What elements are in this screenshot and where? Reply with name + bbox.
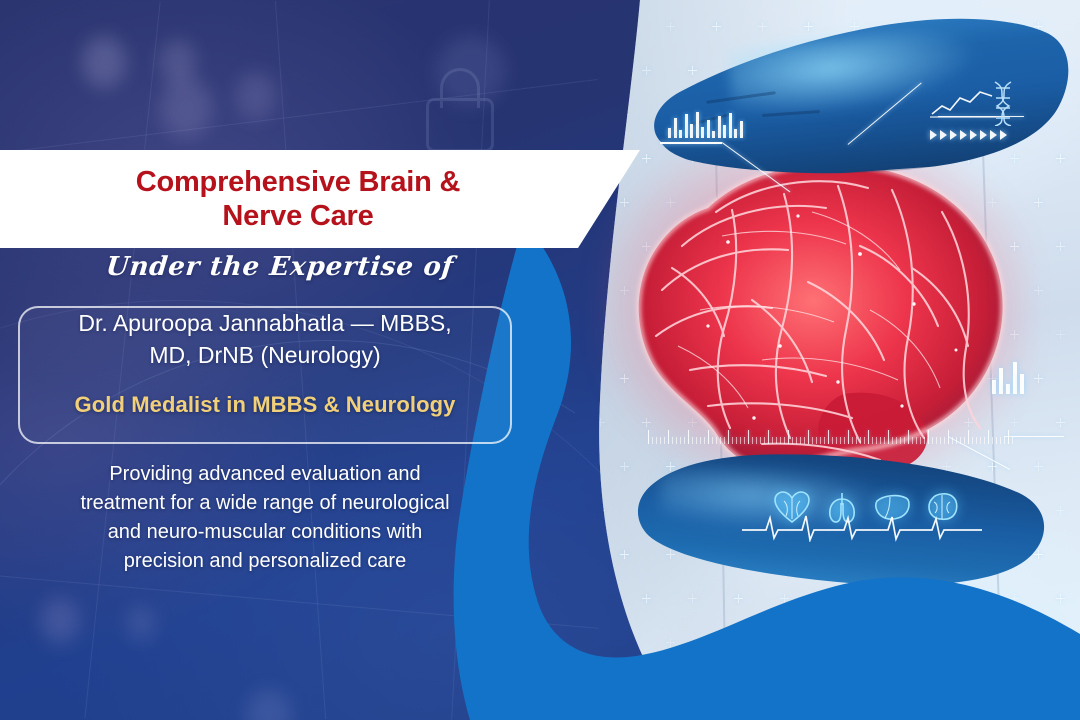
sparkle-icon xyxy=(1056,154,1065,163)
ruler-tick xyxy=(652,437,653,444)
sparkle-icon xyxy=(574,462,583,471)
sparkle-icon xyxy=(596,682,605,691)
sparkle-icon xyxy=(574,286,583,295)
ruler-tick xyxy=(908,430,909,444)
ruler-tick xyxy=(964,437,965,444)
ruler-tick xyxy=(960,437,961,444)
description-line-2: treatment for a wide range of neurologic… xyxy=(30,489,500,518)
sparkle-icon xyxy=(734,594,743,603)
sparkle-icon xyxy=(850,638,859,647)
description-line-1: Providing advanced evaluation and xyxy=(30,460,500,489)
sparkle-icon xyxy=(826,682,835,691)
ruler-tick xyxy=(1004,437,1005,444)
ruler-tick xyxy=(976,437,977,444)
description-line-3: and neuro-muscular conditions with xyxy=(30,518,500,547)
ruler-tick xyxy=(1000,437,1001,444)
sparkle-icon xyxy=(620,22,629,31)
sparkle-icon xyxy=(1056,242,1065,251)
sparkle-icon xyxy=(688,66,697,75)
sparkle-icon xyxy=(666,638,675,647)
ruler-tick xyxy=(676,437,677,444)
sparkle-icon xyxy=(596,66,605,75)
sparkle-icon xyxy=(1034,286,1043,295)
ruler-tick xyxy=(748,430,749,444)
ruler-tick xyxy=(992,437,993,444)
title-line-1: Comprehensive Brain & xyxy=(18,165,578,199)
title-line-2: Nerve Care xyxy=(18,199,578,233)
sparkle-icon xyxy=(642,594,651,603)
ruler-tick xyxy=(832,437,833,444)
ruler-tick xyxy=(768,430,769,444)
ruler-tick xyxy=(916,437,917,444)
ruler-tick xyxy=(900,437,901,444)
ruler-tick xyxy=(924,437,925,444)
sparkle-icon xyxy=(964,594,973,603)
sparkle-icon xyxy=(1056,594,1065,603)
ruler-tick xyxy=(980,437,981,444)
ruler-tick xyxy=(704,437,705,444)
ruler-tick xyxy=(780,437,781,444)
ruler-tick xyxy=(744,437,745,444)
ruler-tick xyxy=(772,437,773,444)
ruler-tick xyxy=(828,430,829,444)
sparkle-icon xyxy=(574,550,583,559)
ruler-tick xyxy=(724,437,725,444)
sparkle-icon xyxy=(850,22,859,31)
decorative-glow xyxy=(436,36,506,106)
ruler-tick xyxy=(880,437,881,444)
decorative-line xyxy=(0,79,598,158)
ruler-tick xyxy=(664,437,665,444)
vertical-bar-chart-icon xyxy=(992,360,1024,394)
ruler-tick xyxy=(904,437,905,444)
ruler-tick xyxy=(788,430,789,444)
medical-promo-banner: Comprehensive Brain & Nerve Care Under t… xyxy=(0,0,1080,720)
ruler-tick xyxy=(804,437,805,444)
ruler-tick xyxy=(884,437,885,444)
arrow-markers-icon xyxy=(930,130,1007,140)
ruler-tick xyxy=(888,430,889,444)
sparkle-icon xyxy=(780,682,789,691)
decorative-glow xyxy=(160,78,212,138)
ruler-tick xyxy=(824,437,825,444)
ruler-tick xyxy=(876,437,877,444)
sparkle-icon xyxy=(1010,594,1019,603)
sparkle-icon xyxy=(642,682,651,691)
doctor-name-line-1: Dr. Apuroopa Jannabhatla — MBBS, xyxy=(32,308,498,340)
doctor-name: Dr. Apuroopa Jannabhatla — MBBS, MD, DrN… xyxy=(18,308,512,371)
ruler-tick xyxy=(860,437,861,444)
sparkle-icon xyxy=(574,638,583,647)
ruler-tick xyxy=(844,437,845,444)
ruler-tick xyxy=(856,437,857,444)
sparkle-icon xyxy=(804,638,813,647)
sparkle-icon xyxy=(688,682,697,691)
line-chart-icon xyxy=(930,88,996,118)
sparkle-icon xyxy=(712,638,721,647)
doctor-name-line-2: MD, DrNB (Neurology) xyxy=(32,340,498,372)
sparkle-icon xyxy=(1056,506,1065,515)
ruler-icon xyxy=(648,424,1014,444)
ruler-tick xyxy=(680,437,681,444)
bar xyxy=(1006,384,1010,394)
coat-seam xyxy=(581,210,601,720)
ruler-tick xyxy=(716,437,717,444)
sparkle-icon xyxy=(1034,374,1043,383)
ruler-tick xyxy=(972,437,973,444)
ruler-tick xyxy=(872,437,873,444)
gold-medalist-badge: Gold Medalist in MBBS & Neurology xyxy=(18,392,512,418)
ruler-tick xyxy=(752,437,753,444)
bar xyxy=(992,380,996,394)
sparkle-icon xyxy=(1056,418,1065,427)
ruler-tick xyxy=(708,430,709,444)
sparkle-icon xyxy=(574,22,583,31)
sparkle-icon xyxy=(872,682,881,691)
ruler-tick xyxy=(760,437,761,444)
sparkle-icon xyxy=(574,110,583,119)
ruler-tick xyxy=(896,437,897,444)
sparkle-icon xyxy=(596,594,605,603)
ruler-tick xyxy=(956,437,957,444)
ruler-tick xyxy=(1012,437,1013,444)
ruler-tick xyxy=(732,437,733,444)
sparkle-icon xyxy=(596,506,605,515)
ecg-waveform-icon xyxy=(742,512,982,542)
bar xyxy=(1013,362,1017,394)
sparkle-icon xyxy=(712,22,721,31)
sparkle-icon xyxy=(988,638,997,647)
sparkle-icon xyxy=(596,242,605,251)
sparkle-icon xyxy=(1034,638,1043,647)
decorative-glow xyxy=(126,606,156,640)
ruler-tick xyxy=(800,437,801,444)
decorative-glow xyxy=(246,690,292,720)
sparkle-icon xyxy=(666,22,675,31)
ruler-tick xyxy=(792,437,793,444)
ruler-tick xyxy=(868,430,869,444)
ruler-tick xyxy=(692,437,693,444)
sparkle-icon xyxy=(918,594,927,603)
ruler-tick xyxy=(736,437,737,444)
ruler-tick xyxy=(852,437,853,444)
ruler-tick xyxy=(836,437,837,444)
ruler-tick xyxy=(720,437,721,444)
hud-underline xyxy=(660,142,722,144)
expertise-label: Under the Expertise of xyxy=(0,252,562,282)
decorative-glow xyxy=(82,36,126,88)
ruler-tick xyxy=(764,437,765,444)
page-title: Comprehensive Brain & Nerve Care xyxy=(18,165,578,233)
content-column: Under the Expertise of Dr. Apuroopa Jann… xyxy=(0,252,560,288)
sparkle-icon xyxy=(620,638,629,647)
decorative-glow xyxy=(236,72,276,120)
lock-watermark-icon xyxy=(418,62,502,154)
sparkle-icon xyxy=(1056,330,1065,339)
ruler-tick xyxy=(656,437,657,444)
sparkle-icon xyxy=(688,594,697,603)
sparkle-icon xyxy=(964,682,973,691)
ruler-tick xyxy=(936,437,937,444)
sparkle-icon xyxy=(620,550,629,559)
ruler-tick xyxy=(688,430,689,444)
decorative-glow xyxy=(40,598,80,644)
bar xyxy=(999,368,1003,394)
ruler-tick xyxy=(712,437,713,444)
ruler-tick xyxy=(940,437,941,444)
sparkle-icon xyxy=(804,22,813,31)
sparkle-icon xyxy=(642,66,651,75)
ruler-tick xyxy=(928,430,929,444)
ruler-tick xyxy=(984,437,985,444)
ruler-tick xyxy=(932,437,933,444)
sparkle-icon xyxy=(942,638,951,647)
ruler-tick xyxy=(944,437,945,444)
ruler-tick xyxy=(840,437,841,444)
ruler-tick xyxy=(776,437,777,444)
ruler-tick xyxy=(728,430,729,444)
decorative-glow xyxy=(160,40,196,84)
sparkle-icon xyxy=(734,682,743,691)
ruler-tick xyxy=(812,437,813,444)
ruler-tick xyxy=(892,437,893,444)
sparkle-icon xyxy=(574,374,583,383)
ruler-tick xyxy=(740,437,741,444)
ruler-tick xyxy=(864,437,865,444)
sparkle-icon xyxy=(620,110,629,119)
ruler-tick xyxy=(816,437,817,444)
description-line-4: precision and personalized care xyxy=(30,547,500,576)
ruler-tick xyxy=(1008,430,1009,444)
ruler-tick xyxy=(668,430,669,444)
sparkle-icon xyxy=(666,550,675,559)
ruler-tick xyxy=(920,437,921,444)
ruler-tick xyxy=(912,437,913,444)
dna-icon xyxy=(990,80,1016,126)
ruler-tick xyxy=(648,430,649,444)
ruler-tick xyxy=(796,437,797,444)
ruler-tick xyxy=(784,437,785,444)
decorative-line xyxy=(0,572,599,629)
sparkle-icon xyxy=(596,330,605,339)
sparkle-icon xyxy=(1010,682,1019,691)
sparkle-icon xyxy=(918,682,927,691)
sparkle-icon xyxy=(596,418,605,427)
ruler-tick xyxy=(968,430,969,444)
sparkle-icon xyxy=(896,638,905,647)
ruler-tick xyxy=(808,430,809,444)
sparkle-icon xyxy=(1034,462,1043,471)
ruler-tick xyxy=(996,437,997,444)
bar xyxy=(1020,374,1024,394)
ruler-tick xyxy=(848,430,849,444)
ruler-tick xyxy=(696,437,697,444)
sparkle-icon xyxy=(1034,198,1043,207)
sparkle-icon xyxy=(758,638,767,647)
sparkle-icon xyxy=(826,594,835,603)
ruler-tick xyxy=(672,437,673,444)
ruler-tick xyxy=(756,437,757,444)
sparkle-icon xyxy=(872,594,881,603)
description-text: Providing advanced evaluation and treatm… xyxy=(30,460,500,576)
ruler-tick xyxy=(820,437,821,444)
ruler-tick xyxy=(660,437,661,444)
ruler-tick xyxy=(684,437,685,444)
ruler-tick xyxy=(700,437,701,444)
ruler-tick xyxy=(988,430,989,444)
ruler-tick xyxy=(948,430,949,444)
title-band: Comprehensive Brain & Nerve Care xyxy=(0,150,640,248)
sparkle-icon xyxy=(780,594,789,603)
sparkle-icon xyxy=(1056,682,1065,691)
sparkle-icon xyxy=(758,22,767,31)
sparkle-icon xyxy=(1034,550,1043,559)
ruler-tick xyxy=(952,437,953,444)
